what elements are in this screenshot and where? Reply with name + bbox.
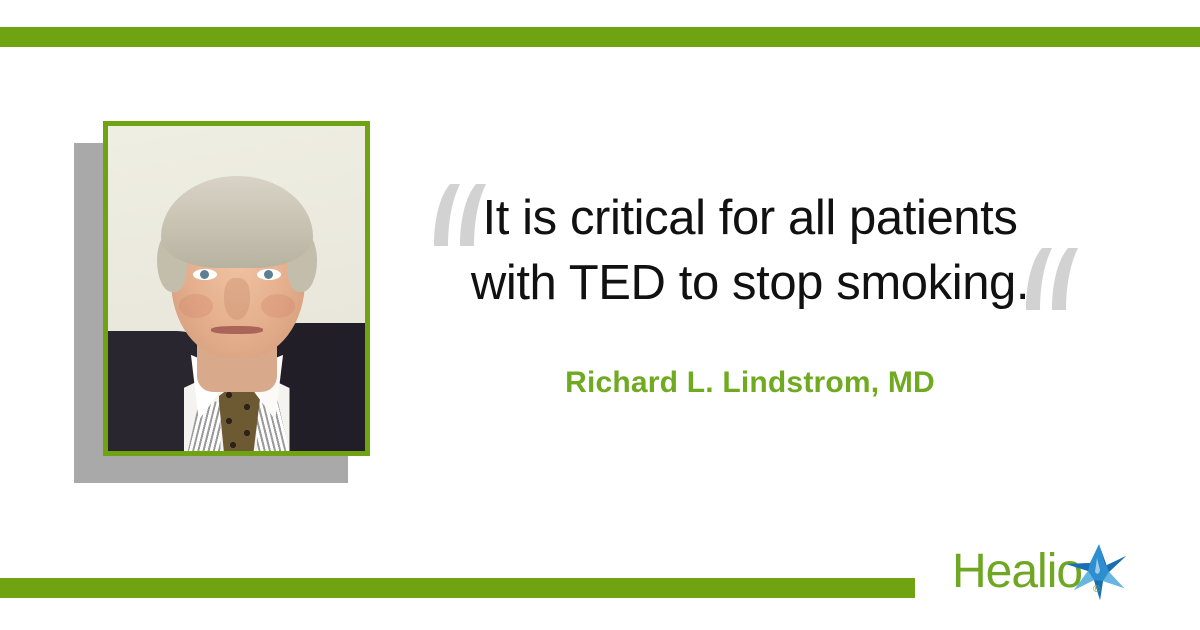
nose <box>224 278 250 320</box>
portrait-frame <box>103 121 370 456</box>
portrait-photo <box>108 126 365 451</box>
cheek-left <box>179 294 213 318</box>
top-green-rule <box>0 27 1200 47</box>
quote-line-1: It is critical for all patients <box>420 186 1080 251</box>
quote-line-2: with TED to stop smoking. <box>420 251 1080 316</box>
mouth <box>211 326 263 334</box>
iris-left <box>200 270 209 279</box>
quote-card: It is critical for all patients with TED… <box>0 0 1200 630</box>
registered-mark: ® <box>1093 584 1100 595</box>
healio-logo[interactable]: Healio ® <box>952 546 1142 602</box>
bottom-green-rule <box>0 578 915 598</box>
portrait <box>74 121 374 486</box>
cheek-right <box>261 294 295 318</box>
eye-right <box>257 269 281 280</box>
iris-right <box>264 270 273 279</box>
necktie-pattern <box>219 383 261 456</box>
necktie <box>219 383 261 456</box>
quote-block: It is critical for all patients with TED… <box>420 186 1080 316</box>
eye-left <box>193 269 217 280</box>
healio-wordmark: Healio <box>952 546 1082 598</box>
attribution-name: Richard L. Lindstrom, MD <box>420 366 1080 400</box>
